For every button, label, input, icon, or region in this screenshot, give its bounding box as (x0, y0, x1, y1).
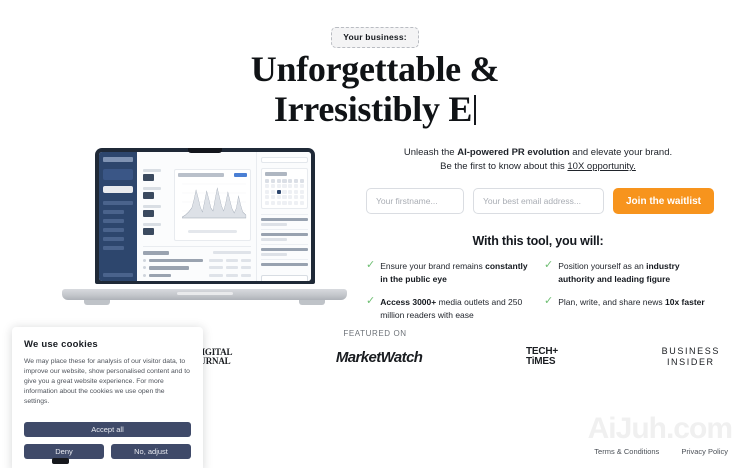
calendar-header (265, 172, 304, 176)
benefit-item: ✓ Ensure your brand remains constantly i… (366, 260, 532, 285)
cookie-buttons: Accept all Deny No, adjust (24, 419, 191, 459)
stat-label (143, 169, 161, 172)
benefit-item: ✓ Plan, write, and share news 10x faster (544, 296, 710, 321)
calendar-day (265, 201, 269, 205)
row-cell (241, 266, 251, 269)
benefit-text: Access 3000+ media outlets and 250 milli… (380, 296, 532, 321)
check-icon: ✓ (366, 296, 375, 321)
item-title (261, 263, 308, 267)
calendar-day (294, 201, 298, 205)
headline-highlight: Unforgettable & (247, 49, 503, 89)
adjust-button[interactable]: No, adjust (111, 444, 191, 459)
headline-typing-text: Irresistibly E (274, 89, 472, 129)
calendar-day (271, 190, 275, 194)
list-item (261, 244, 308, 259)
page-title: Unforgettable & Irresistibly E (0, 49, 750, 129)
check-icon: ✓ (544, 260, 553, 285)
dashboard-user-chip (103, 169, 133, 180)
table-row (143, 259, 251, 263)
text-caret (474, 95, 476, 125)
hero-badge: Your business: (331, 27, 419, 48)
list-item (261, 259, 308, 272)
chart-action-link (234, 173, 247, 177)
benefit-text: Plan, write, and share news 10x faster (558, 296, 704, 321)
calendar-dow (282, 179, 286, 183)
calendar-day (288, 195, 292, 199)
dashboard-search-field (261, 157, 308, 163)
column-header (143, 251, 169, 255)
calendar-day (265, 195, 269, 199)
dashboard-nav-item (103, 210, 124, 214)
calendar-day (271, 201, 275, 205)
row-title (149, 259, 203, 263)
calendar-month-label (265, 172, 287, 176)
laptop-camera-notch (188, 148, 222, 153)
stat-label (143, 205, 161, 208)
calendar-day (300, 195, 304, 199)
marketwatch-logo: MarketWatch (336, 349, 422, 366)
calendar-day (265, 184, 269, 188)
subtext-part-3: Be the first to know about this (440, 161, 567, 172)
dashboard-stats-and-chart (143, 169, 251, 241)
calendar-day (282, 201, 286, 205)
dashboard-right-panel (256, 152, 311, 281)
footer-links: Terms & Conditions Privacy Policy (594, 447, 728, 456)
calendar-day (271, 195, 275, 199)
chart-range-slider (188, 230, 237, 233)
laptop-screen-lid (95, 148, 315, 284)
benefit-item: ✓ Access 3000+ media outlets and 250 mil… (366, 296, 532, 321)
business-insider-line-1: BUSINESS (662, 346, 720, 357)
opportunity-link[interactable]: 10X opportunity. (567, 161, 635, 172)
headline-line-2: Irresistibly E (0, 89, 750, 129)
laptop-dashboard-mockup (62, 148, 347, 306)
benefit-bold: 10x faster (665, 297, 705, 307)
row-cell (226, 259, 238, 262)
benefit-text: Position yourself as an industry authori… (558, 260, 710, 285)
hero-subtext: Unleash the AI-powered PR evolution and … (366, 146, 710, 174)
firstname-input[interactable] (366, 188, 464, 214)
hero-badge-wrap: Your business: (0, 27, 750, 48)
table-row (143, 274, 251, 278)
stat-value (143, 174, 154, 181)
stat-value (143, 210, 154, 217)
calendar-day (277, 201, 281, 205)
calendar-dow (294, 179, 298, 183)
laptop-foot-left (84, 300, 110, 305)
row-cell (241, 259, 251, 262)
cookie-body: We may place these for analysis of our v… (24, 357, 191, 407)
business-insider-line-2: INSIDER (662, 357, 720, 368)
cookie-title: We use cookies (24, 339, 191, 350)
calendar-dow (271, 179, 275, 183)
calendar-grid (265, 179, 304, 205)
calendar-day (277, 195, 281, 199)
tech-times-line-2: TiMES (526, 357, 558, 367)
calendar-day (265, 190, 269, 194)
dashboard-sidebar-footer (103, 273, 133, 277)
row-title (149, 266, 189, 270)
benefit-bold: Access 3000+ (380, 297, 436, 307)
list-item (261, 229, 308, 244)
item-subtitle (261, 253, 287, 256)
calendar-day (282, 184, 286, 188)
laptop-base (62, 289, 347, 300)
subtext-part-1: Unleash the (404, 147, 457, 158)
table-row (143, 266, 251, 270)
hero-subtext-line-2: Be the first to know about this 10X oppo… (366, 160, 710, 174)
dashboard-nav-item (103, 201, 133, 205)
calendar-day (300, 201, 304, 205)
list-item (261, 214, 308, 229)
calendar-day (271, 184, 275, 188)
subtext-part-2: and elevate your brand. (570, 147, 672, 158)
benefit-pre: Position yourself as an (558, 261, 646, 271)
waitlist-form: Join the waitlist (366, 188, 710, 214)
calendar-day (288, 190, 292, 194)
stat-label (143, 187, 161, 190)
row-cell (209, 274, 223, 277)
item-title (261, 248, 308, 252)
benefits-list: ✓ Ensure your brand remains constantly i… (366, 260, 710, 321)
item-subtitle (261, 223, 287, 226)
tech-times-logo: TECH+ TiMES (526, 347, 558, 367)
hero-subtext-line-1: Unleash the AI-powered PR evolution and … (366, 146, 710, 160)
site-watermark: AiJuh.com (588, 412, 732, 446)
laptop-base-notch (177, 292, 233, 295)
row-index (143, 266, 146, 269)
check-icon: ✓ (366, 260, 375, 285)
row-cell (226, 266, 238, 269)
dashboard-main-panel (137, 152, 256, 281)
item-title (261, 233, 308, 237)
join-waitlist-button[interactable]: Join the waitlist (613, 188, 714, 214)
row-cell (226, 274, 238, 277)
calendar-day (294, 195, 298, 199)
accept-all-button[interactable]: Accept all (24, 422, 191, 437)
chart-title (178, 173, 224, 177)
row-title (149, 274, 171, 278)
calendar-day (288, 184, 292, 188)
calendar-day (282, 195, 286, 199)
signup-column: Unleash the AI-powered PR evolution and … (366, 146, 710, 321)
benefits-title: With this tool, you will: (366, 234, 710, 248)
landing-page: Your business: Unforgettable & Irresisti… (0, 0, 750, 468)
column-header (213, 251, 251, 254)
dashboard-screenshot (99, 152, 311, 281)
cookie-consent-banner: We use cookies We may place these for an… (12, 327, 203, 468)
dashboard-area-chart (174, 169, 251, 241)
calendar-day (277, 184, 281, 188)
dashboard-nav-item (103, 246, 124, 250)
stat-value (143, 192, 154, 199)
calendar-dow (277, 179, 281, 183)
check-icon: ✓ (544, 296, 553, 321)
item-subtitle (261, 238, 287, 241)
cookie-secondary-buttons: Deny No, adjust (24, 444, 191, 459)
dashboard-nav-item (103, 219, 124, 223)
dashboard-nav-item (103, 237, 124, 241)
row-index (143, 259, 146, 262)
dashboard-logo (103, 157, 133, 162)
calendar-day (300, 190, 304, 194)
chart-header (178, 173, 247, 177)
dashboard-secondary-button (261, 275, 308, 281)
calendar-day-selected (277, 190, 281, 194)
calendar-dow (300, 179, 304, 183)
benefit-pre: Ensure your brand remains (380, 261, 485, 271)
deny-button[interactable]: Deny (24, 444, 104, 459)
calendar-day (300, 184, 304, 188)
benefit-pre: Plan, write, and share news (558, 297, 665, 307)
dashboard-list-table (143, 246, 251, 281)
calendar-day (294, 190, 298, 194)
dashboard-calendar (261, 168, 308, 209)
calendar-day (282, 190, 286, 194)
row-cell (209, 266, 223, 269)
privacy-link[interactable]: Privacy Policy (681, 447, 728, 456)
cookie-settings-fab[interactable] (52, 458, 69, 464)
item-title (261, 218, 308, 222)
row-index (143, 274, 146, 277)
terms-link[interactable]: Terms & Conditions (594, 447, 659, 456)
dashboard-stat-column (143, 169, 169, 241)
dashboard-nav-item (103, 228, 124, 232)
email-input[interactable] (473, 188, 604, 214)
stat-label (143, 223, 161, 226)
calendar-dow (265, 179, 269, 183)
calendar-day (294, 184, 298, 188)
headline-line-1: Unforgettable & (0, 49, 750, 89)
benefit-text: Ensure your brand remains constantly in … (380, 260, 532, 285)
row-cell (241, 274, 251, 277)
dashboard-sidebar (99, 152, 137, 281)
row-cell (209, 259, 223, 262)
chart-svg (178, 178, 247, 224)
calendar-day (288, 201, 292, 205)
business-insider-logo: BUSINESS INSIDER (662, 346, 720, 368)
list-header (143, 251, 251, 255)
laptop-foot-right (299, 300, 325, 305)
subtext-bold: AI-powered PR evolution (457, 147, 569, 158)
calendar-dow (288, 179, 292, 183)
benefit-item: ✓ Position yourself as an industry autho… (544, 260, 710, 285)
stat-value (143, 228, 154, 235)
dashboard-primary-button (103, 186, 133, 193)
